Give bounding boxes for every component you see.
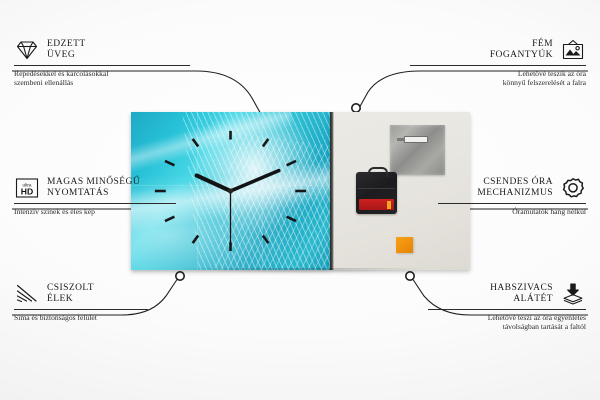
mechanism-hook	[368, 167, 388, 177]
feature-rule	[410, 65, 586, 66]
mechanism-seam	[358, 188, 395, 189]
feature-rule	[14, 309, 148, 310]
feature-rule	[428, 309, 586, 310]
battery	[359, 199, 394, 210]
feature-subtitle: Óramutatók hang nélkül	[438, 207, 586, 216]
ultra-hd-icon: ultra HD	[14, 176, 40, 200]
gear-icon	[560, 176, 586, 200]
foam-pad-arrow-icon	[560, 282, 586, 306]
feature-title: MAGAS MINŐSÉGŰ NYOMTATÁS	[47, 177, 140, 200]
infographic-canvas: EDZETT ÜVEG Repedésekkel és karcolásokka…	[0, 0, 600, 400]
feature-silent-mechanism: CSENDES ÓRA MECHANIZMUS Óramutatók hang …	[438, 176, 586, 216]
feature-subtitle: Repedésekkel és karcolásokkal szembeni e…	[14, 69, 190, 88]
feature-tempered-glass: EDZETT ÜVEG Repedésekkel és karcolásokka…	[14, 38, 190, 88]
hanger-slot	[404, 136, 428, 143]
feature-foam-pad: HABSZIVACS ALÁTÉT Lehetővé teszi az óra …	[428, 282, 586, 332]
feature-high-quality-print: ultra HD MAGAS MINŐSÉGŰ NYOMTATÁS Intenz…	[14, 176, 176, 216]
feature-subtitle: Lehetővé teszi az óra egyenletes távolsá…	[428, 313, 586, 332]
picture-hanger-icon	[560, 38, 586, 62]
quartz-mechanism	[356, 172, 397, 214]
feature-rule	[438, 203, 586, 204]
feature-subtitle: Sima és biztonságos felület	[14, 313, 148, 322]
svg-text:HD: HD	[21, 186, 33, 196]
metal-hanger-plate	[390, 125, 445, 175]
connector-dot-metal-handles	[352, 104, 360, 112]
product-shadow	[134, 268, 468, 275]
foam-spacer-pad	[396, 237, 413, 253]
clock-minute-hand	[231, 171, 279, 191]
clock-center-cap	[228, 188, 233, 193]
diamond-icon	[14, 38, 40, 62]
feature-title: EDZETT ÜVEG	[47, 39, 86, 62]
feature-subtitle: Lehetővé teszik az óra könnyű felszerelé…	[410, 69, 586, 88]
feature-title: FÉM FOGANTYÚK	[490, 39, 553, 62]
feature-rule	[14, 65, 190, 66]
feature-polished-edges: CSISZOLT ÉLEK Sima és biztonságos felüle…	[14, 282, 148, 322]
feature-title: HABSZIVACS ALÁTÉT	[490, 283, 553, 306]
polished-edges-icon	[14, 282, 40, 306]
feature-title: CSENDES ÓRA MECHANIZMUS	[477, 177, 553, 200]
panel-edge	[330, 112, 334, 270]
clock-hour-hand	[197, 176, 231, 192]
feature-subtitle: Intenzív színek és éles kép	[14, 207, 176, 216]
feature-rule	[14, 203, 176, 204]
feature-metal-handles: FÉM FOGANTYÚK Lehetővé teszik az óra kön…	[410, 38, 586, 88]
feature-title: CSISZOLT ÉLEK	[47, 283, 94, 306]
